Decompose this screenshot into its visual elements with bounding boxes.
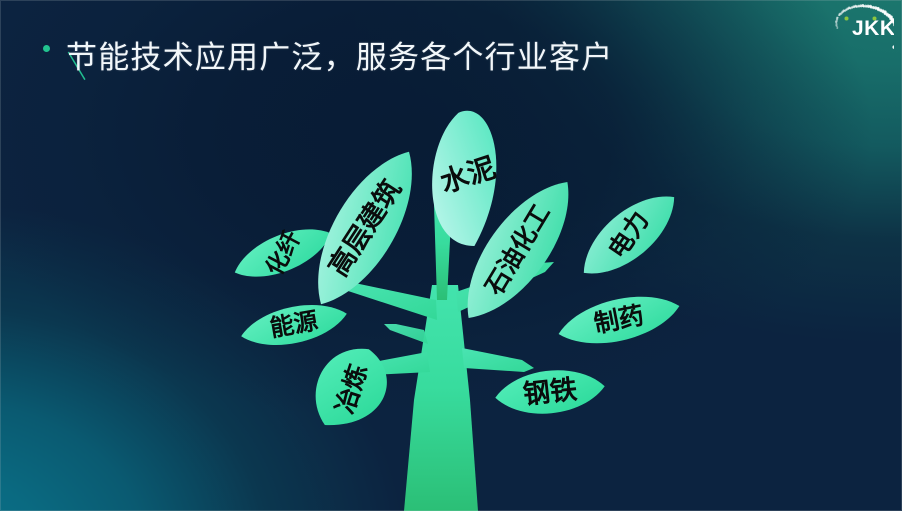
tree-sprout-left — [384, 324, 428, 344]
leaf-yelian[interactable]: 冶炼 — [305, 337, 398, 441]
leaf-zhiyao[interactable]: 制药 — [554, 286, 684, 354]
leaf-gangtie[interactable]: 钢铁 — [493, 365, 607, 419]
slide-canvas: 化纤高层建筑水泥石油化工电力能源制药冶炼钢铁 节能技术应用广泛，服务各个行业客户… — [0, 0, 902, 511]
tree-trunk — [404, 285, 478, 511]
jkkj-logo-icon: JKKJ — [808, 2, 894, 58]
tree-branch-lower-right — [462, 348, 534, 372]
leaf-gangtie-label: 钢铁 — [522, 374, 579, 409]
title-accent-dot — [43, 45, 50, 52]
brand-logo[interactable]: JKKJ — [808, 2, 894, 58]
logo-i-dot-left — [845, 17, 849, 21]
page-title: 节能技术应用广泛，服务各个行业客户 — [66, 36, 613, 80]
slide-header: 节能技术应用广泛，服务各个行业客户 — [42, 36, 742, 96]
leaf-nengyuan[interactable]: 能源 — [237, 296, 350, 354]
logo-i-dot-right — [873, 17, 877, 21]
logo-wordmark: JKKJ — [852, 17, 894, 40]
leaf-dianli[interactable]: 电力 — [569, 180, 688, 290]
